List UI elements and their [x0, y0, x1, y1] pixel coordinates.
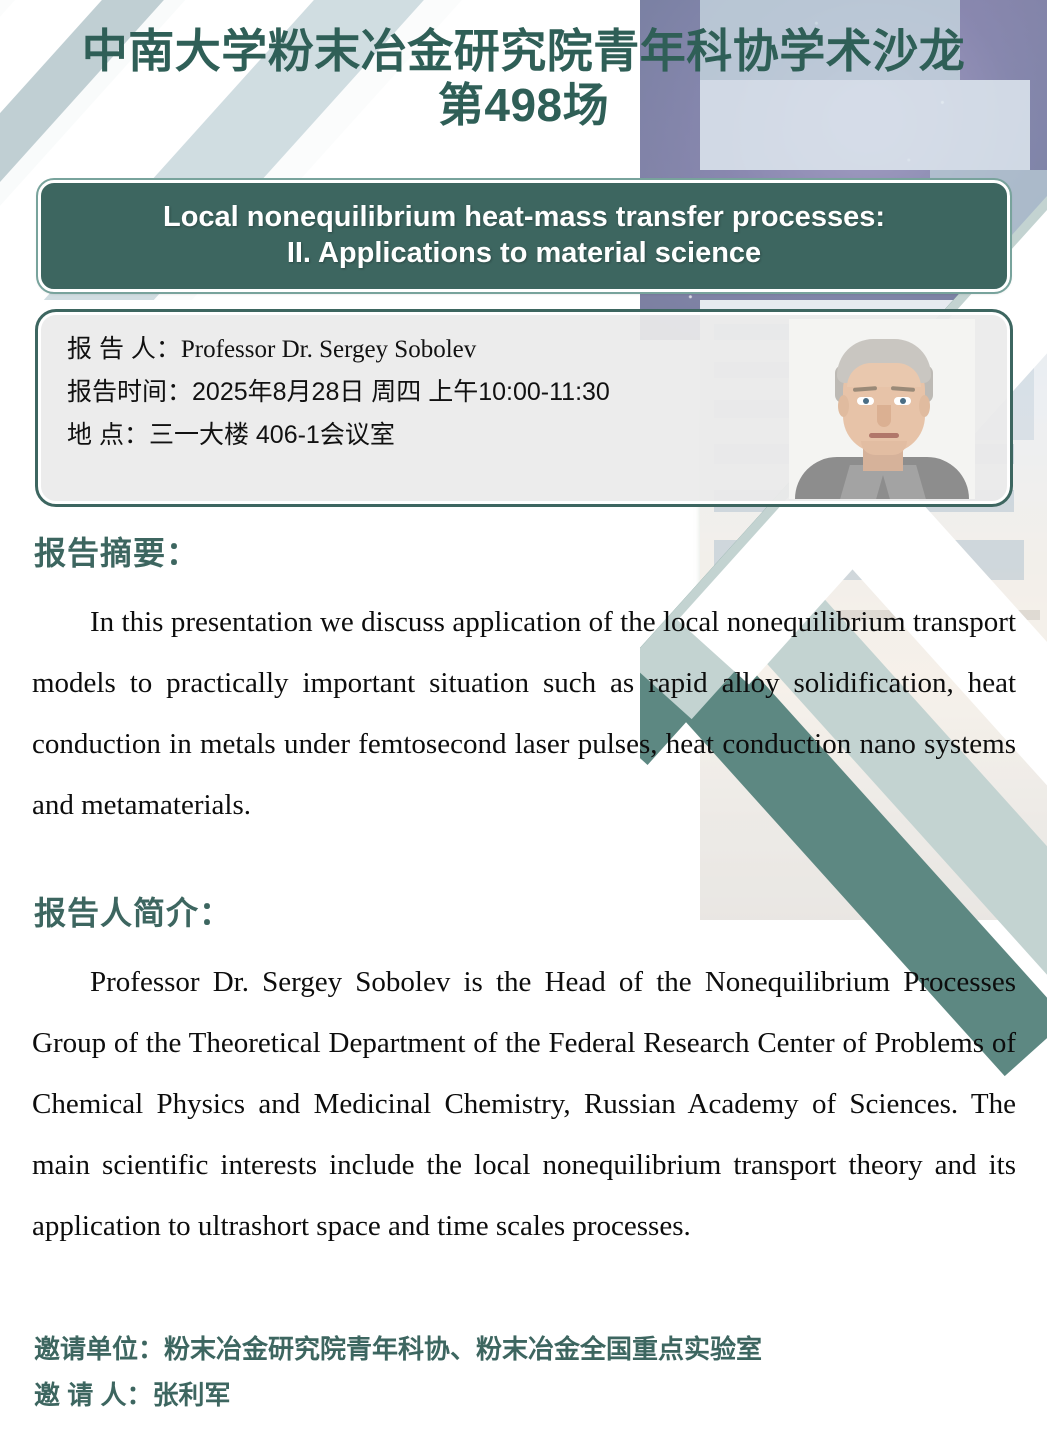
portrait-ear-left — [838, 395, 849, 417]
page-title-line2: 第498场 — [30, 78, 1017, 132]
abstract-heading: 报告摘要： — [34, 528, 199, 574]
talk-title-line1: Local nonequilibrium heat-mass transfer … — [163, 200, 885, 236]
time-value: 2025年8月28日 周四 上午10:00-11:30 — [192, 380, 610, 405]
poster-content: 中南大学粉末冶金研究院青年科协学术沙龙 第498场 Local nonequil… — [0, 0, 1047, 1440]
footer: 邀请单位：粉末冶金研究院青年科协、粉末冶金全国重点实验室 邀 请 人：张利军 — [34, 1336, 994, 1428]
bio-heading: 报告人简介： — [34, 888, 232, 934]
seminar-poster: 中南大学粉末冶金研究院青年科协学术沙龙 第498场 Local nonequil… — [0, 0, 1047, 1440]
page-title-line1: 中南大学粉末冶金研究院青年科协学术沙龙 — [30, 24, 1017, 78]
talk-title-banner: Local nonequilibrium heat-mass transfer … — [38, 180, 1010, 292]
portrait-pupil-left — [863, 398, 869, 404]
portrait-chin — [861, 441, 907, 455]
portrait-forehead — [847, 363, 921, 387]
page-title: 中南大学粉末冶金研究院青年科协学术沙龙 第498场 — [0, 24, 1047, 133]
abstract-body: In this presentation we discuss applicat… — [32, 592, 1016, 836]
time-label: 报告时间： — [67, 380, 192, 405]
venue-label: 地 点： — [67, 423, 149, 448]
bio-body: Professor Dr. Sergey Sobolev is the Head… — [32, 952, 1016, 1257]
talk-title-text: Local nonequilibrium heat-mass transfer … — [141, 200, 907, 272]
portrait-nose — [877, 405, 891, 427]
speaker-portrait — [789, 319, 975, 499]
portrait-ear-right — [919, 395, 930, 417]
speaker-value: Professor Dr. Sergey Sobolev — [181, 337, 476, 362]
host-organization: 邀请单位：粉末冶金研究院青年科协、粉末冶金全国重点实验室 — [34, 1336, 994, 1362]
venue-value: 三一大楼 406-1会议室 — [149, 423, 395, 448]
inviter: 邀 请 人：张利军 — [34, 1382, 994, 1408]
talk-title-line2: II. Applications to material science — [163, 236, 885, 272]
portrait-pupil-right — [900, 398, 906, 404]
portrait-mouth — [869, 433, 899, 438]
speaker-label: 报 告 人： — [67, 337, 181, 362]
